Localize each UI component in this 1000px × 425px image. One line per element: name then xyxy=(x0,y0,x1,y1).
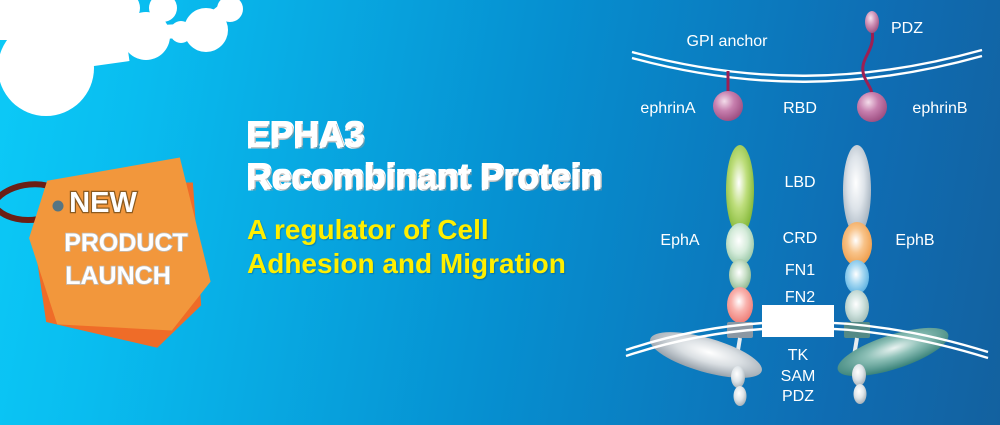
label-fn1: FN1 xyxy=(785,262,815,279)
new-product-launch-badge[interactable]: NEW PRODUCT LAUNCH xyxy=(0,148,250,348)
label-fn2: FN2 xyxy=(785,289,815,306)
badge-line-2: PRODUCT xyxy=(64,229,188,257)
diagram-callout-box xyxy=(762,305,834,337)
epha-crd-domain xyxy=(726,223,754,265)
ephb-receptor-chain xyxy=(833,145,954,404)
label-crd: CRD xyxy=(783,230,818,247)
label-ephrin-a: ephrinA xyxy=(640,100,695,117)
epha-fn2-domain xyxy=(727,287,753,323)
upper-membrane xyxy=(632,50,982,82)
epha-fn1-domain xyxy=(729,259,751,291)
label-pdz-bottom: PDZ xyxy=(782,388,814,405)
product-launch-banner: NEW PRODUCT LAUNCH EPHA3 Recombinant Pro… xyxy=(0,0,1000,425)
ephb-lbd-domain xyxy=(843,145,871,235)
label-rbd: RBD xyxy=(783,100,817,117)
eph-ephrin-signaling-diagram: GPI anchor PDZ ephrinA RBD ephrinB LBD E… xyxy=(610,0,1000,425)
epha-receptor-chain xyxy=(646,145,767,406)
epha-sam-domain xyxy=(731,366,745,388)
pdz-top-ellipse-icon xyxy=(865,11,879,33)
badge-eyelet-icon xyxy=(53,201,64,212)
label-gpi-anchor: GPI anchor xyxy=(687,33,769,50)
epha-lbd-domain xyxy=(726,145,754,235)
ephb-sam-domain xyxy=(852,364,866,386)
label-pdz-top: PDZ xyxy=(891,20,923,37)
label-ephrin-b: ephrinB xyxy=(912,100,967,117)
molecule-decoration-icon xyxy=(0,0,260,130)
label-sam: SAM xyxy=(781,368,816,385)
label-eph-b: EphB xyxy=(895,232,934,249)
badge-line-1: NEW xyxy=(69,187,137,219)
badge-line-3: LAUNCH xyxy=(65,262,171,290)
ephrin-b-sphere-icon xyxy=(857,92,887,122)
ephb-crd-domain xyxy=(842,222,872,266)
ephb-fn1-domain xyxy=(845,260,869,294)
ephrin-a-sphere-icon xyxy=(713,91,743,121)
label-tk: TK xyxy=(788,347,809,364)
pdz-hook-stem xyxy=(863,30,873,96)
label-lbd: LBD xyxy=(784,174,815,191)
label-eph-a: EphA xyxy=(660,232,699,249)
ephb-pdz-domain xyxy=(854,384,867,404)
ephb-fn2-domain xyxy=(845,290,869,324)
epha-pdz-domain xyxy=(734,386,747,406)
